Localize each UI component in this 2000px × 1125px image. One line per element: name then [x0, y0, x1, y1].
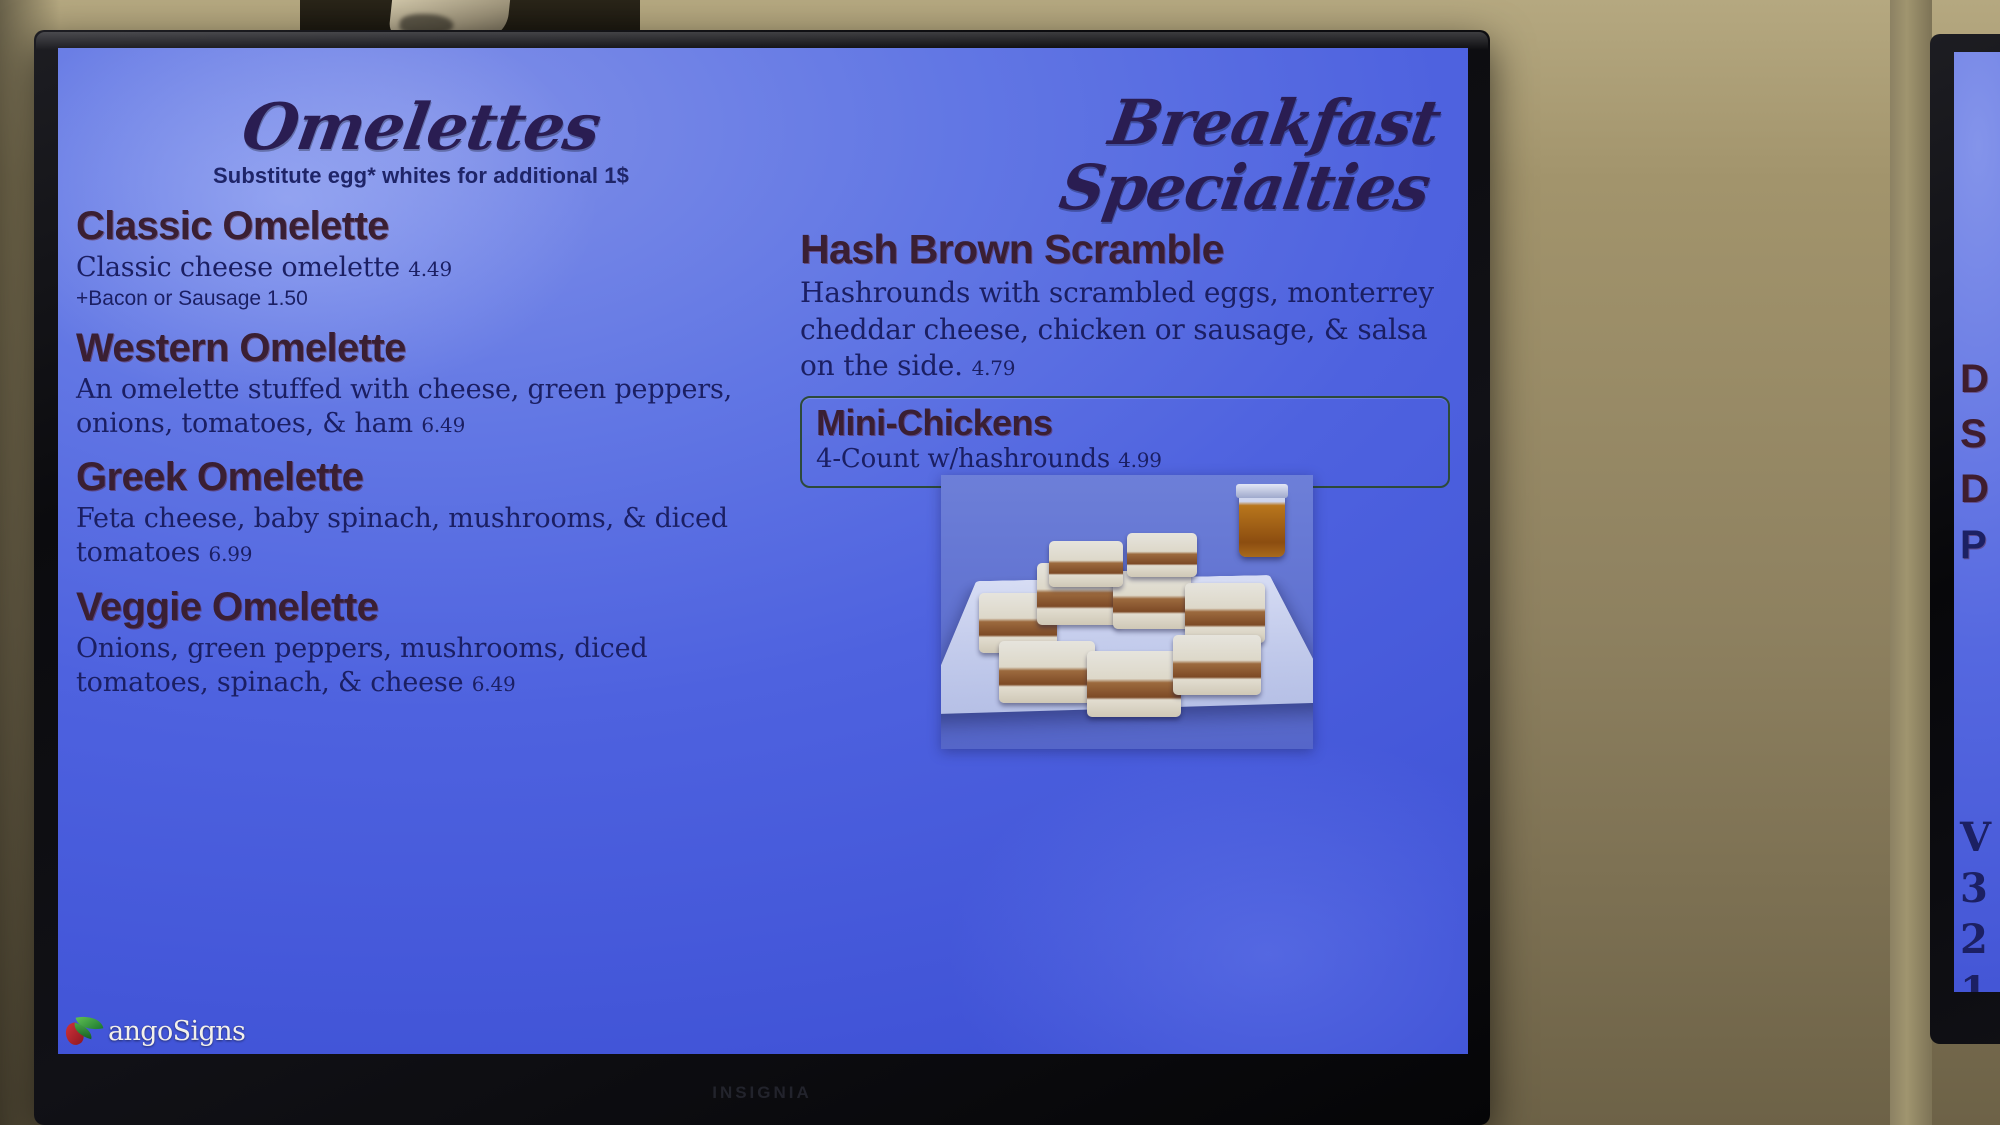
second-tv-screen: D S D P V 3 2 1 [1954, 52, 2000, 992]
second-screen-heading-letters: D S D P [1960, 352, 1989, 573]
item-price: 4.79 [972, 356, 1016, 380]
photo-biscuit [1113, 571, 1191, 629]
breakfast-specialties-column: Breakfast Specialties Hash Brown Scrambl… [800, 90, 1450, 488]
photo-honey-lid [1236, 484, 1288, 498]
second-screen-number: 3 [1960, 863, 1991, 914]
omelettes-subnote: Substitute egg* whites for additional 1$ [76, 163, 766, 189]
item-addon: +Bacon or Sausage 1.50 [76, 287, 766, 311]
item-title: Mini-Chickens [816, 404, 1436, 442]
item-price: 6.99 [209, 542, 253, 566]
menu-item-veggie-omelette[interactable]: Veggie Omelette Onions, green peppers, m… [76, 586, 766, 700]
item-description: Feta cheese, baby spinach, mushrooms, & … [76, 502, 766, 570]
mangosigns-watermark: angoSigns [62, 1014, 245, 1048]
menu-item-hash-brown-scramble[interactable]: Hash Brown Scramble Hashrounds with scra… [800, 228, 1450, 384]
breakfast-specialties-heading: Breakfast Specialties [790, 90, 1461, 220]
second-screen-number: 2 [1960, 914, 1991, 965]
second-screen-letter: D [1960, 352, 1989, 407]
menu-item-greek-omelette[interactable]: Greek Omelette Feta cheese, baby spinach… [76, 456, 766, 570]
photo-biscuit [1049, 541, 1123, 587]
item-price: 6.49 [421, 413, 465, 437]
menu-content: Omelettes Substitute egg* whites for add… [58, 48, 1468, 1054]
menu-board-tv: Omelettes Substitute egg* whites for add… [34, 30, 1490, 1125]
item-title: Greek Omelette [76, 456, 766, 498]
item-desc-text: Onions, green peppers, mushrooms, diced … [76, 633, 647, 698]
item-title: Hash Brown Scramble [800, 228, 1450, 271]
second-screen-letter: D [1960, 462, 1989, 517]
item-description: An omelette stuffed with cheese, green p… [76, 373, 766, 441]
item-title: Veggie Omelette [76, 586, 766, 628]
photo-biscuit [1087, 651, 1181, 717]
tv-screen: Omelettes Substitute egg* whites for add… [58, 48, 1468, 1054]
item-price: 4.99 [1118, 448, 1162, 472]
menu-item-mini-chickens-boxed[interactable]: Mini-Chickens 4-Count w/hashrounds 4.99 [800, 396, 1450, 487]
wall-gap-between-tvs [1890, 0, 1932, 1125]
item-description: Onions, green peppers, mushrooms, diced … [76, 632, 766, 700]
second-screen-number-letters: V 3 2 1 [1960, 812, 1991, 992]
menu-item-western-omelette[interactable]: Western Omelette An omelette stuffed wit… [76, 327, 766, 441]
item-desc-text: An omelette stuffed with cheese, green p… [76, 374, 732, 439]
omelettes-heading: Omelettes [71, 94, 772, 161]
item-description: 4-Count w/hashrounds 4.99 [816, 443, 1436, 476]
photo-biscuit [1185, 583, 1265, 643]
photo-biscuit [1173, 635, 1261, 695]
food-photo-chicken-biscuits [941, 475, 1313, 749]
second-screen-number: 1 [1960, 966, 1991, 992]
second-menu-board-tv: D S D P V 3 2 1 [1930, 34, 2000, 1044]
item-description: Classic cheese omelette 4.49 [76, 251, 766, 285]
item-desc-text: 4-Count w/hashrounds [816, 444, 1110, 474]
photo-honey-jar [1239, 491, 1285, 557]
item-title: Classic Omelette [76, 205, 766, 247]
item-price: 4.49 [408, 257, 452, 281]
item-description: Hashrounds with scrambled eggs, monterre… [800, 275, 1450, 384]
tv-brand-label: INSIGNIA [34, 1083, 1490, 1103]
photo-biscuit [1127, 533, 1197, 577]
photo-biscuit [999, 641, 1095, 703]
item-title: Western Omelette [76, 327, 766, 369]
item-desc-text: Hashrounds with scrambled eggs, monterre… [800, 276, 1434, 382]
item-price: 6.49 [472, 672, 516, 696]
second-screen-letter: P [1960, 518, 1989, 573]
item-desc-text: Classic cheese omelette [76, 252, 400, 283]
second-screen-number: V [1960, 812, 1991, 863]
mango-leaf-icon [62, 1014, 106, 1048]
mangosigns-label: angoSigns [108, 1016, 245, 1047]
menu-item-classic-omelette[interactable]: Classic Omelette Classic cheese omelette… [76, 205, 766, 311]
second-screen-letter: S [1960, 407, 1989, 462]
omelettes-column: Omelettes Substitute egg* whites for add… [76, 94, 766, 699]
item-desc-text: Feta cheese, baby spinach, mushrooms, & … [76, 503, 728, 568]
